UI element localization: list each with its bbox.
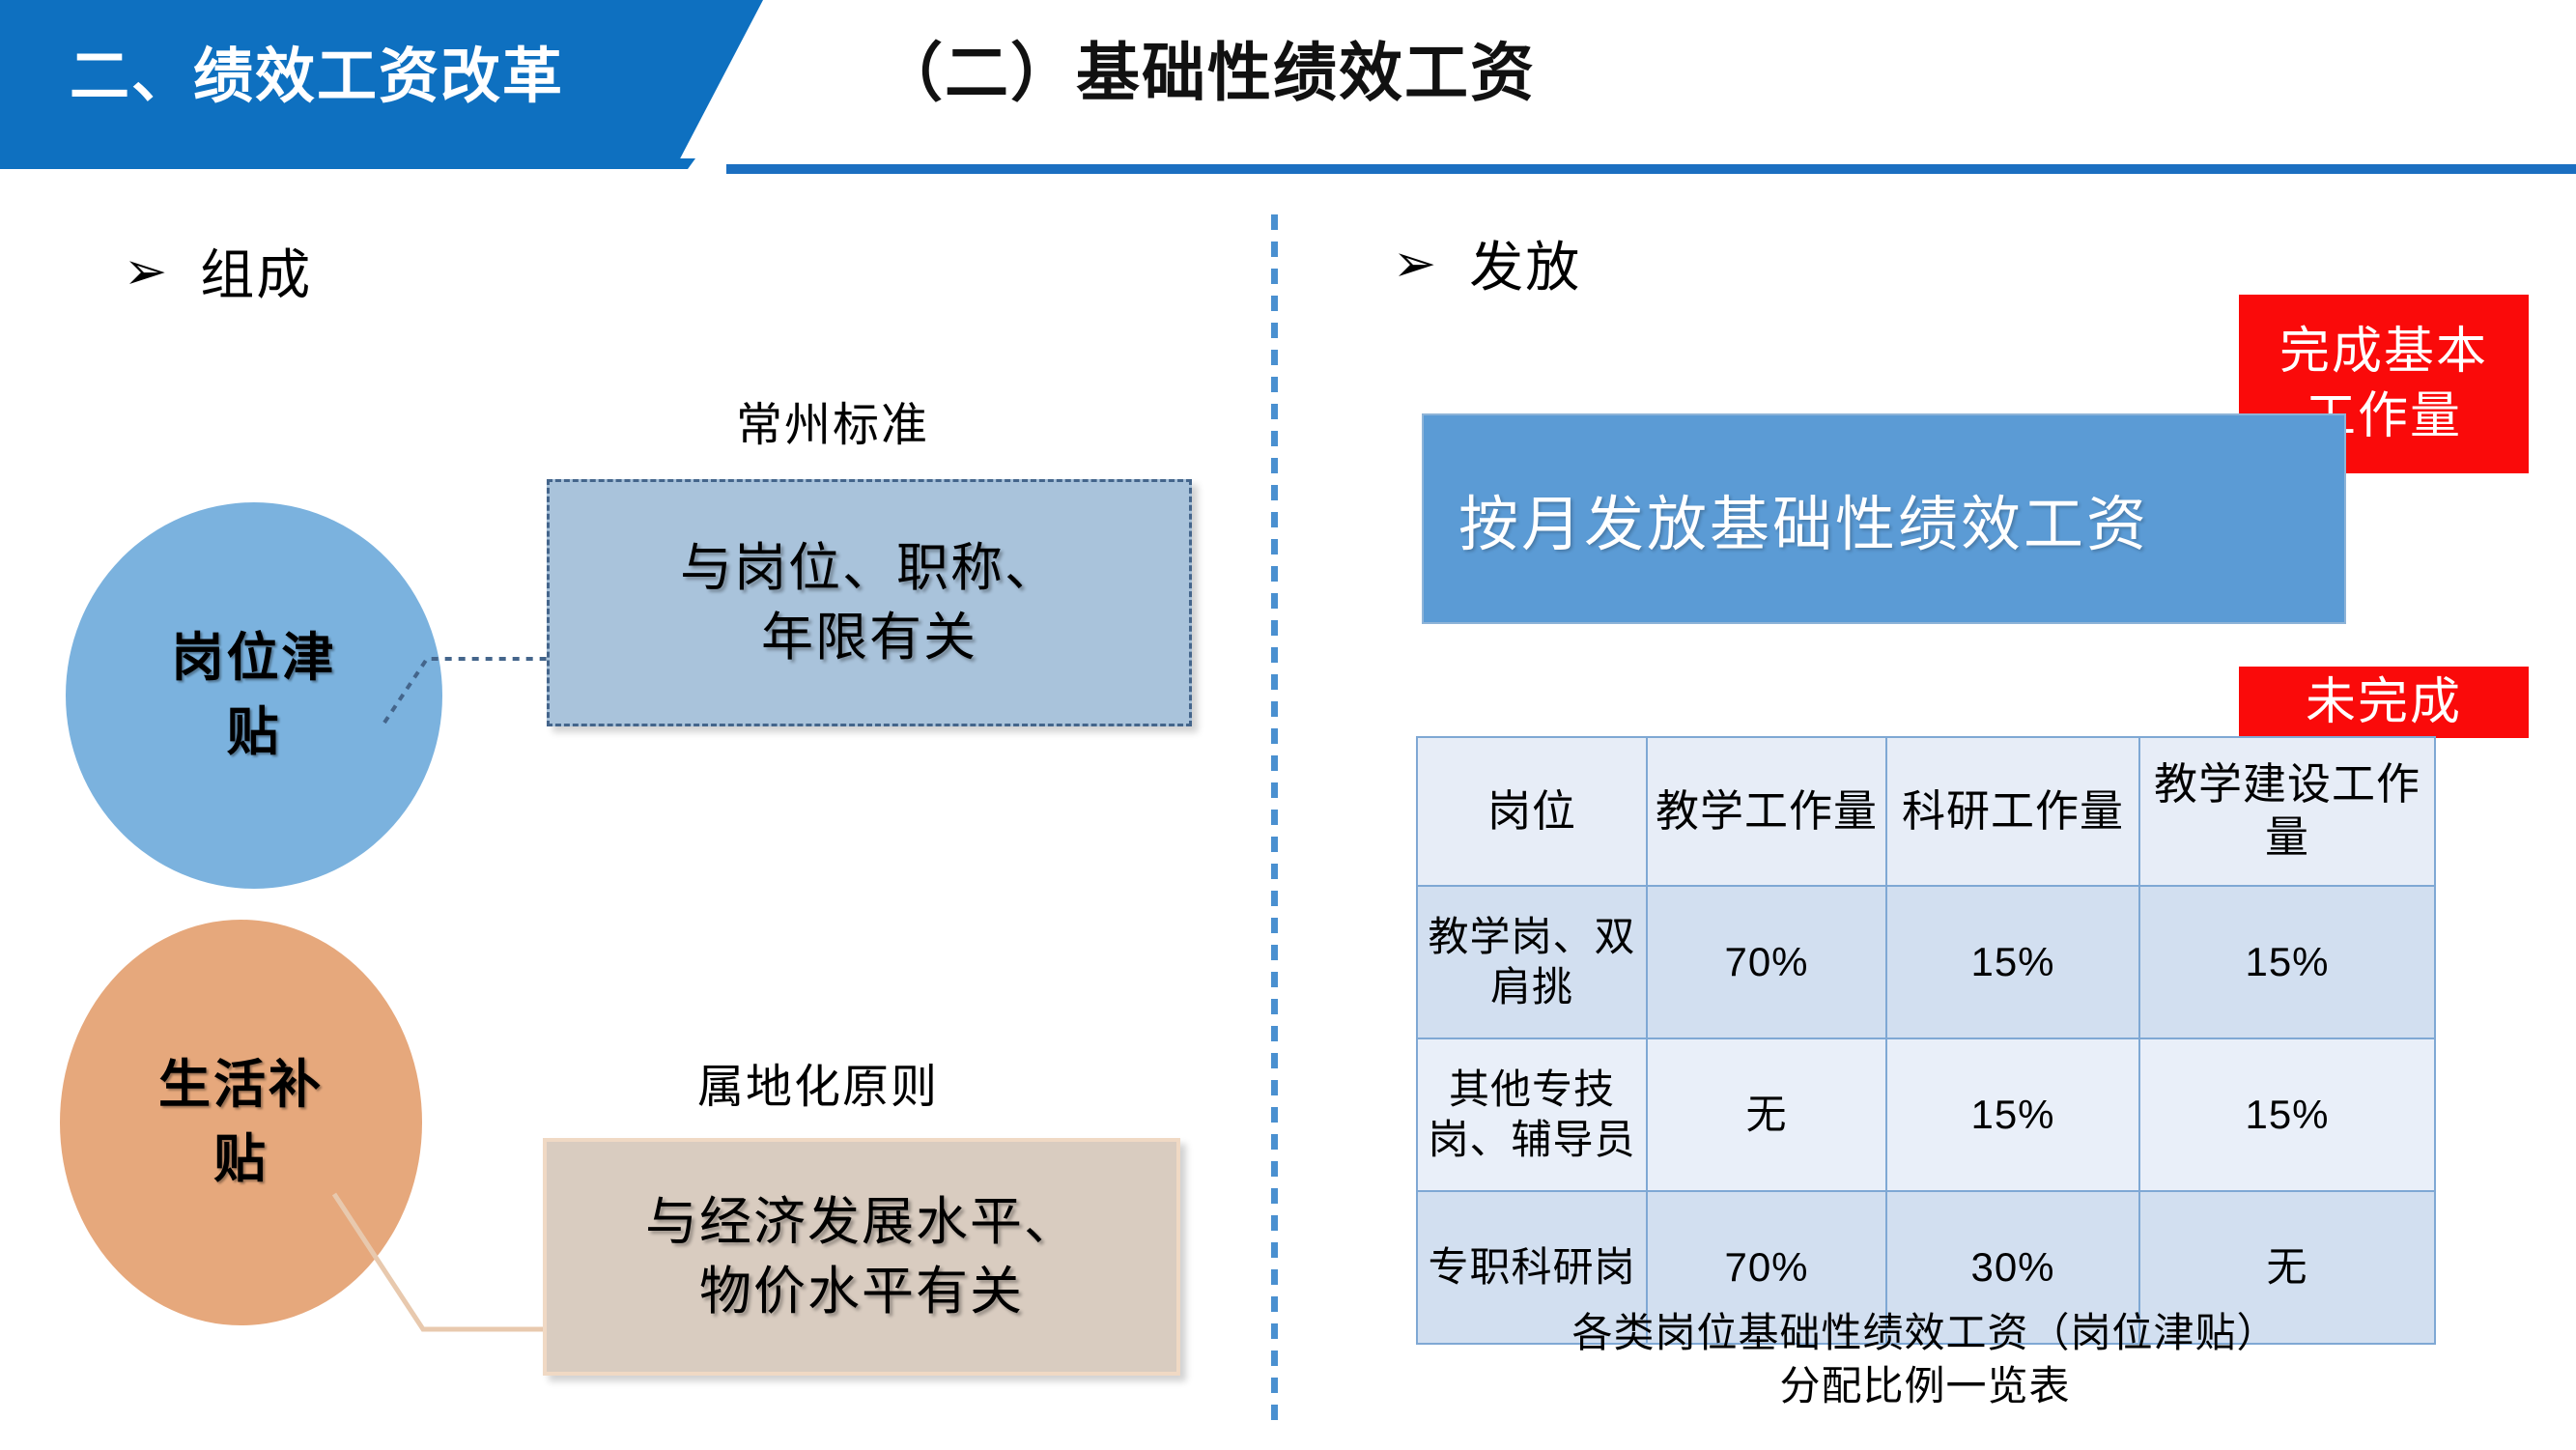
cell-teaching-workload: 无 bbox=[1647, 1038, 1886, 1191]
circle-living-subsidy-line1: 生活补 bbox=[158, 1048, 324, 1123]
header-section-tag: 二、绩效工资改革 bbox=[70, 27, 564, 114]
cell-research-workload: 15% bbox=[1886, 1038, 2139, 1191]
circle-post-allowance-line2: 贴 bbox=[227, 696, 282, 770]
cell-teaching-workload: 70% bbox=[1647, 886, 1886, 1038]
arrow-bullet-icon: ➢ bbox=[1393, 238, 1436, 290]
column-header-research-workload: 科研工作量 bbox=[1886, 737, 2139, 886]
box-living-subsidy-detail: 与经济发展水平、 物价水平有关 bbox=[543, 1138, 1180, 1376]
circle-post-allowance-line1: 岗位津 bbox=[172, 621, 337, 696]
box-living-detail-line2: 物价水平有关 bbox=[699, 1257, 1024, 1326]
banner-monthly-payment: 按月发放基础性绩效工资 bbox=[1422, 413, 2346, 624]
bullet-composition-label: 组成 bbox=[200, 232, 312, 310]
column-header-position: 岗位 bbox=[1417, 737, 1647, 886]
caption-changzhou-standard: 常州标准 bbox=[736, 386, 929, 454]
box-post-detail-line2: 年限有关 bbox=[761, 603, 977, 672]
cell-position: 教学岗、双肩挑 bbox=[1417, 886, 1647, 1038]
header-underline-right bbox=[726, 164, 2576, 174]
cell-teaching-construction-workload: 15% bbox=[2139, 886, 2435, 1038]
page-title: （二）基础性绩效工资 bbox=[879, 21, 1536, 114]
vertical-dashed-divider bbox=[1271, 214, 1278, 1424]
cell-position: 其他专技岗、辅导员 bbox=[1417, 1038, 1647, 1191]
bullet-composition: ➢ 组成 bbox=[124, 232, 312, 310]
table-caption-line1: 各类岗位基础性绩效工资（岗位津贴） bbox=[1416, 1306, 2434, 1359]
box-post-detail-line1: 与岗位、职称、 bbox=[680, 533, 1059, 603]
table-caption-line2: 分配比例一览表 bbox=[1416, 1359, 2434, 1412]
box-living-detail-line1: 与经济发展水平、 bbox=[645, 1187, 1078, 1257]
cell-teaching-construction-workload: 15% bbox=[2139, 1038, 2435, 1191]
badge-not-completed-line1: 未完成 bbox=[2306, 670, 2462, 735]
table-caption: 各类岗位基础性绩效工资（岗位津贴） 分配比例一览表 bbox=[1416, 1306, 2434, 1413]
badge-completed-line1: 完成基本 bbox=[2279, 320, 2488, 384]
table-header-row: 岗位 教学工作量 科研工作量 教学建设工作量 bbox=[1417, 737, 2435, 886]
column-header-teaching-construction-workload: 教学建设工作量 bbox=[2139, 737, 2435, 886]
circle-living-subsidy-line2: 贴 bbox=[213, 1123, 269, 1197]
caption-locality-principle: 属地化原则 bbox=[697, 1048, 939, 1116]
table-row: 其他专技岗、辅导员 无 15% 15% bbox=[1417, 1038, 2435, 1191]
ratio-table: 岗位 教学工作量 科研工作量 教学建设工作量 教学岗、双肩挑 70% 15% 1… bbox=[1416, 736, 2436, 1345]
arrow-bullet-icon: ➢ bbox=[124, 245, 167, 298]
box-post-allowance-detail: 与岗位、职称、 年限有关 bbox=[547, 479, 1192, 726]
circle-living-subsidy: 生活补 贴 bbox=[60, 920, 422, 1325]
slide-header: 二、绩效工资改革 （二）基础性绩效工资 bbox=[0, 0, 2576, 180]
column-header-teaching-workload: 教学工作量 bbox=[1647, 737, 1886, 886]
table-row: 教学岗、双肩挑 70% 15% 15% bbox=[1417, 886, 2435, 1038]
bullet-issuance-label: 发放 bbox=[1469, 224, 1581, 302]
cell-research-workload: 15% bbox=[1886, 886, 2139, 1038]
status-badge-not-completed: 未完成 bbox=[2239, 667, 2529, 738]
circle-post-allowance: 岗位津 贴 bbox=[66, 502, 442, 889]
header-underline-left bbox=[0, 158, 695, 169]
bullet-issuance: ➢ 发放 bbox=[1393, 224, 1581, 302]
